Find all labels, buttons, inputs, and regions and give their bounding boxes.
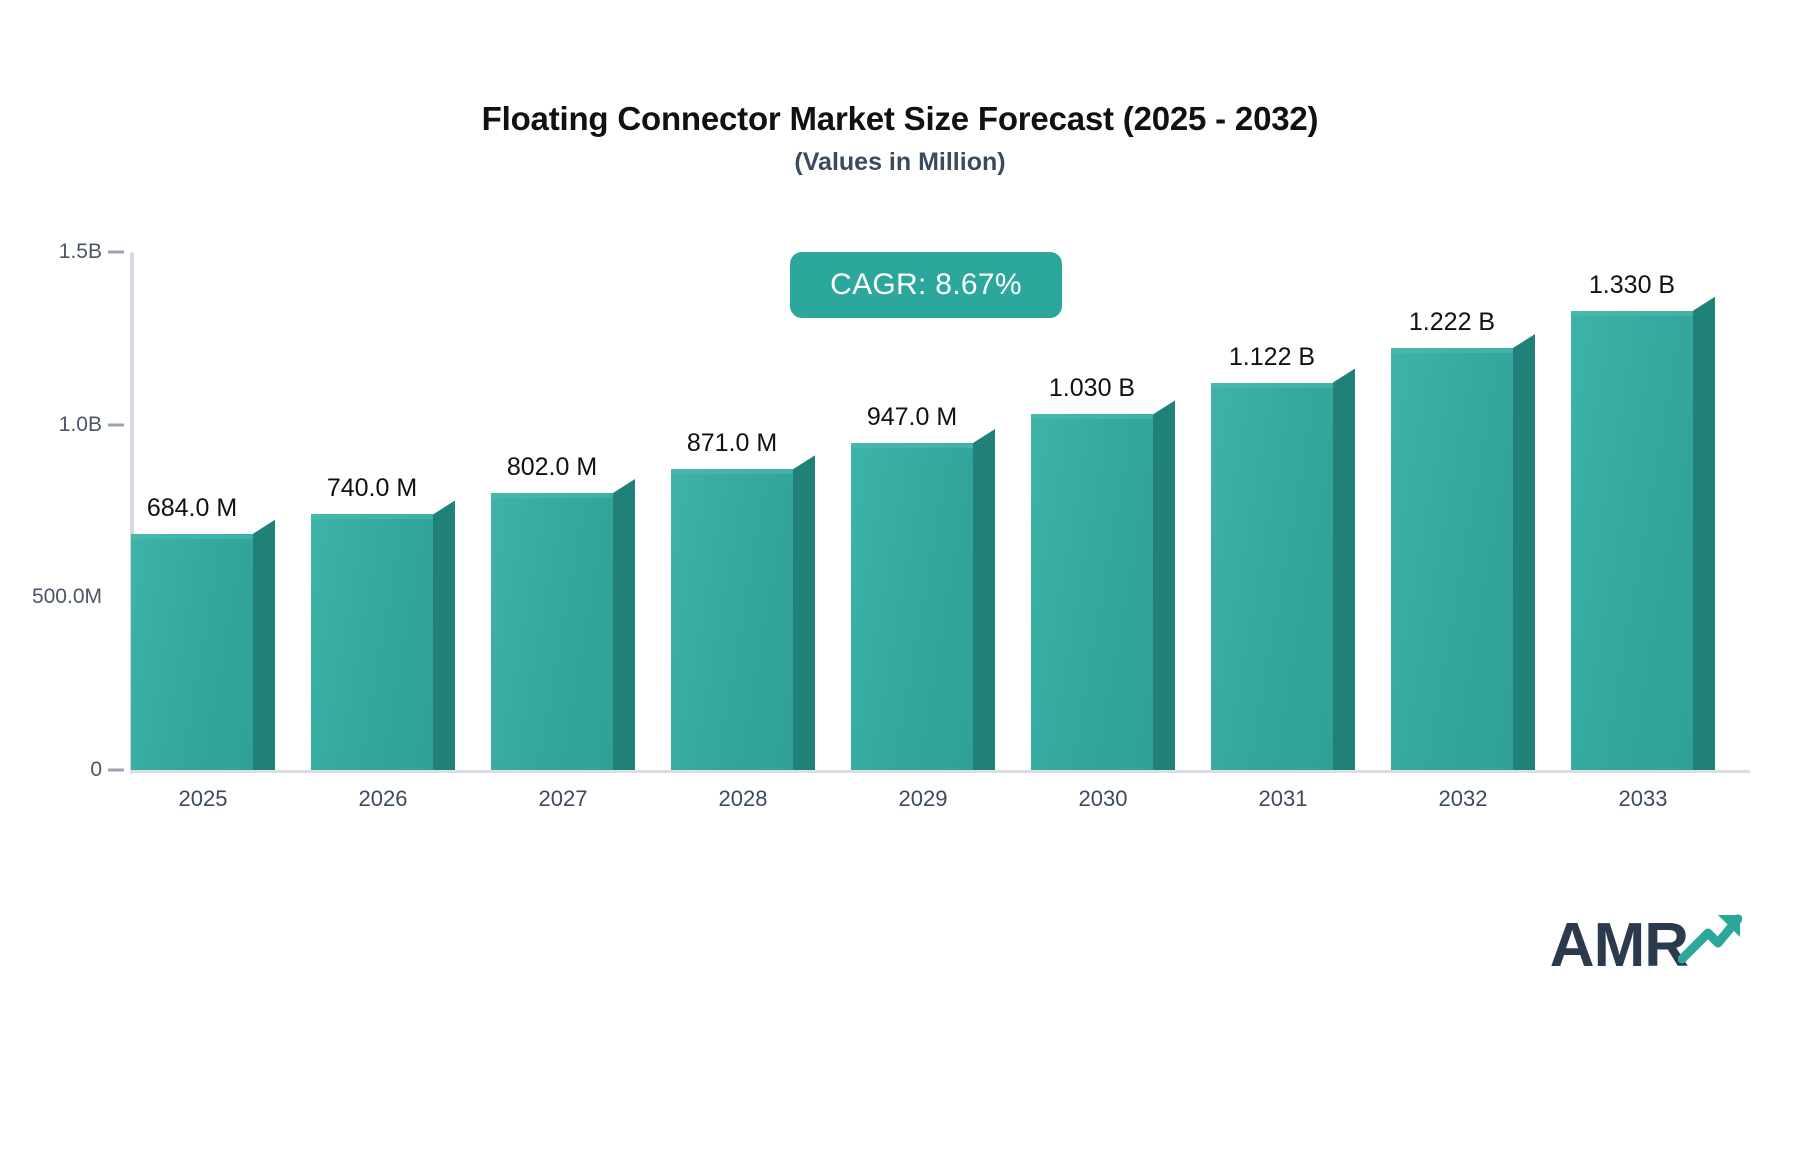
bar-value-label: 740.0 M	[311, 474, 433, 1156]
bar-value-label: 1.222 B	[1391, 308, 1513, 1156]
x-tick-label: 2031	[1211, 786, 1355, 812]
amr-logo-text: AMR	[1550, 918, 1688, 974]
bar-value-label: 947.0 M	[851, 403, 973, 1156]
bar-side-face	[1693, 297, 1715, 770]
bar-side-face	[973, 429, 995, 770]
bar-side-face	[253, 520, 275, 770]
x-tick-label: 2033	[1571, 786, 1715, 812]
bar-value-label: 684.0 M	[131, 494, 253, 1156]
bar-side-face	[1513, 334, 1535, 770]
growth-arrow-icon	[1678, 911, 1742, 970]
x-tick-label: 2025	[131, 786, 275, 812]
bar-side-face	[433, 500, 455, 770]
bar-series: 684.0 M740.0 M802.0 M871.0 M947.0 M1.030…	[0, 0, 1800, 1156]
x-tick-label: 2032	[1391, 786, 1535, 812]
bar-value-label: 1.030 B	[1031, 374, 1153, 1156]
amr-logo: AMR	[1550, 911, 1742, 974]
x-tick-label: 2026	[311, 786, 455, 812]
bar-side-face	[1333, 369, 1355, 770]
bar-side-face	[1153, 400, 1175, 770]
bar-side-face	[613, 479, 635, 770]
bar-side-face	[793, 455, 815, 770]
bar-value-label: 1.122 B	[1211, 343, 1333, 1156]
x-tick-label: 2029	[851, 786, 995, 812]
bar-value-label: 1.330 B	[1571, 271, 1693, 1156]
chart-canvas: Floating Connector Market Size Forecast …	[0, 0, 1800, 1156]
x-tick-label: 2027	[491, 786, 635, 812]
plot-area: 1.5B1.0B500.0M0 684.0 M740.0 M802.0 M871…	[0, 0, 1800, 1156]
x-tick-label: 2028	[671, 786, 815, 812]
x-tick-label: 2030	[1031, 786, 1175, 812]
